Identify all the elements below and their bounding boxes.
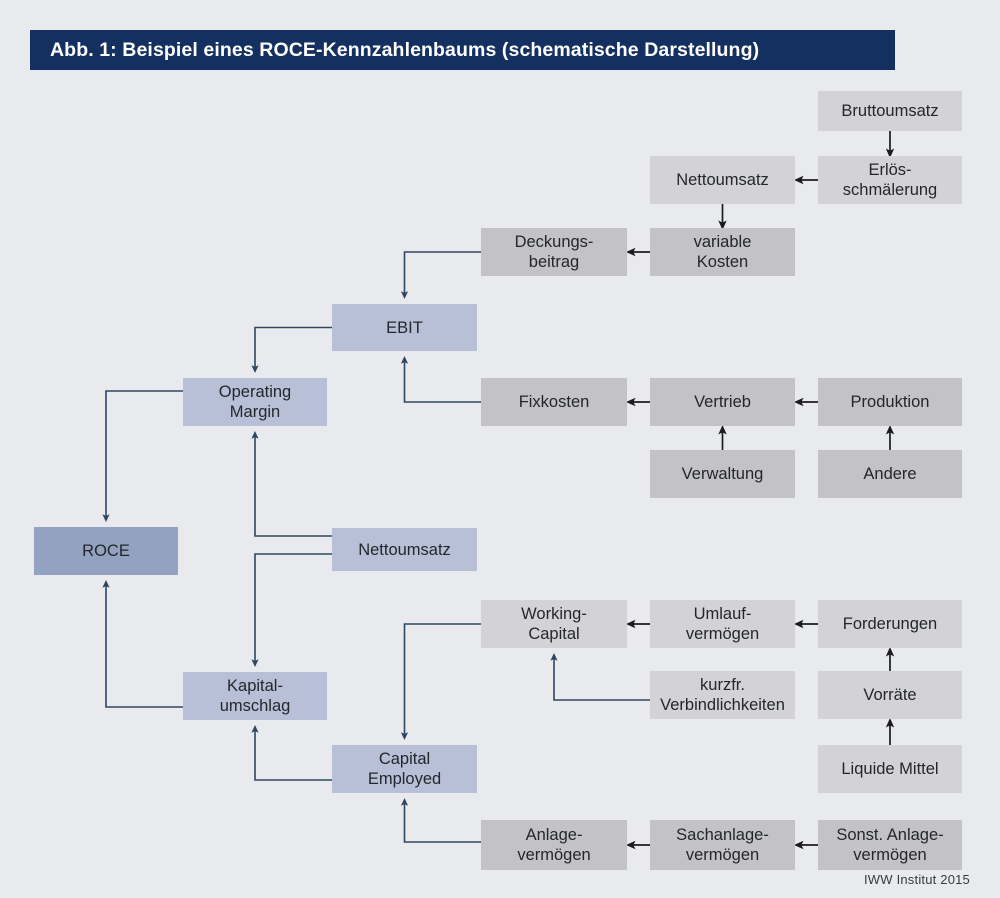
node-label: Erlös- schmälerung <box>843 160 937 200</box>
node-label: Anlage- vermögen <box>517 825 590 865</box>
node-nettoumsatz-top[interactable]: Nettoumsatz <box>650 156 795 204</box>
node-sonst-anlage[interactable]: Sonst. Anlage- vermögen <box>818 820 962 870</box>
node-capital-employed[interactable]: Capital Employed <box>332 745 477 793</box>
node-bruttoumsatz[interactable]: Bruttoumsatz <box>818 91 962 131</box>
node-label: Operating Margin <box>219 382 291 422</box>
node-label: Nettoumsatz <box>676 170 769 190</box>
node-label: Vertrieb <box>694 392 751 412</box>
node-label: Working- Capital <box>521 604 587 644</box>
node-anlagevermoegen[interactable]: Anlage- vermögen <box>481 820 627 870</box>
node-layer: ROCEOperating MarginKapital- umschlagEBI… <box>0 0 1000 898</box>
node-ebit[interactable]: EBIT <box>332 304 477 351</box>
node-label: Nettoumsatz <box>358 540 451 560</box>
node-vorraete[interactable]: Vorräte <box>818 671 962 719</box>
node-label: Liquide Mittel <box>841 759 938 779</box>
node-kurzfr-verb[interactable]: kurzfr. Verbindlichkeiten <box>650 671 795 719</box>
node-verwaltung[interactable]: Verwaltung <box>650 450 795 498</box>
node-nettoumsatz-mid[interactable]: Nettoumsatz <box>332 528 477 571</box>
node-label: EBIT <box>386 318 423 338</box>
node-working-capital[interactable]: Working- Capital <box>481 600 627 648</box>
node-label: Bruttoumsatz <box>841 101 938 121</box>
node-operating-margin[interactable]: Operating Margin <box>183 378 327 426</box>
node-vertrieb[interactable]: Vertrieb <box>650 378 795 426</box>
node-erloesschm[interactable]: Erlös- schmälerung <box>818 156 962 204</box>
node-label: Fixkosten <box>519 392 590 412</box>
node-label: ROCE <box>82 541 130 561</box>
node-kapitalumschlag[interactable]: Kapital- umschlag <box>183 672 327 720</box>
roce-tree-diagram: ROCEOperating MarginKapital- umschlagEBI… <box>0 0 1000 898</box>
node-label: Vorräte <box>863 685 916 705</box>
node-forderungen[interactable]: Forderungen <box>818 600 962 648</box>
node-fixkosten[interactable]: Fixkosten <box>481 378 627 426</box>
node-label: Umlauf- vermögen <box>686 604 759 644</box>
node-deckungsbeitrag[interactable]: Deckungs- beitrag <box>481 228 627 276</box>
node-label: Produktion <box>851 392 930 412</box>
node-label: Kapital- umschlag <box>220 676 291 716</box>
node-label: Forderungen <box>843 614 937 634</box>
node-umlaufvermoegen[interactable]: Umlauf- vermögen <box>650 600 795 648</box>
node-andere[interactable]: Andere <box>818 450 962 498</box>
node-label: variable Kosten <box>694 232 752 272</box>
node-label: Capital Employed <box>368 749 441 789</box>
node-liquide-mittel[interactable]: Liquide Mittel <box>818 745 962 793</box>
node-label: kurzfr. Verbindlichkeiten <box>660 675 785 715</box>
figure-root: Abb. 1: Beispiel eines ROCE-Kennzahlenba… <box>0 0 1000 898</box>
node-produktion[interactable]: Produktion <box>818 378 962 426</box>
node-label: Verwaltung <box>682 464 764 484</box>
node-label: Deckungs- beitrag <box>515 232 594 272</box>
node-variable-kosten[interactable]: variable Kosten <box>650 228 795 276</box>
node-roce[interactable]: ROCE <box>34 527 178 575</box>
node-label: Andere <box>863 464 916 484</box>
footer-credit: IWW Institut 2015 <box>864 872 970 887</box>
node-label: Sachanlage- vermögen <box>676 825 769 865</box>
node-label: Sonst. Anlage- vermögen <box>836 825 943 865</box>
node-sachanlage[interactable]: Sachanlage- vermögen <box>650 820 795 870</box>
